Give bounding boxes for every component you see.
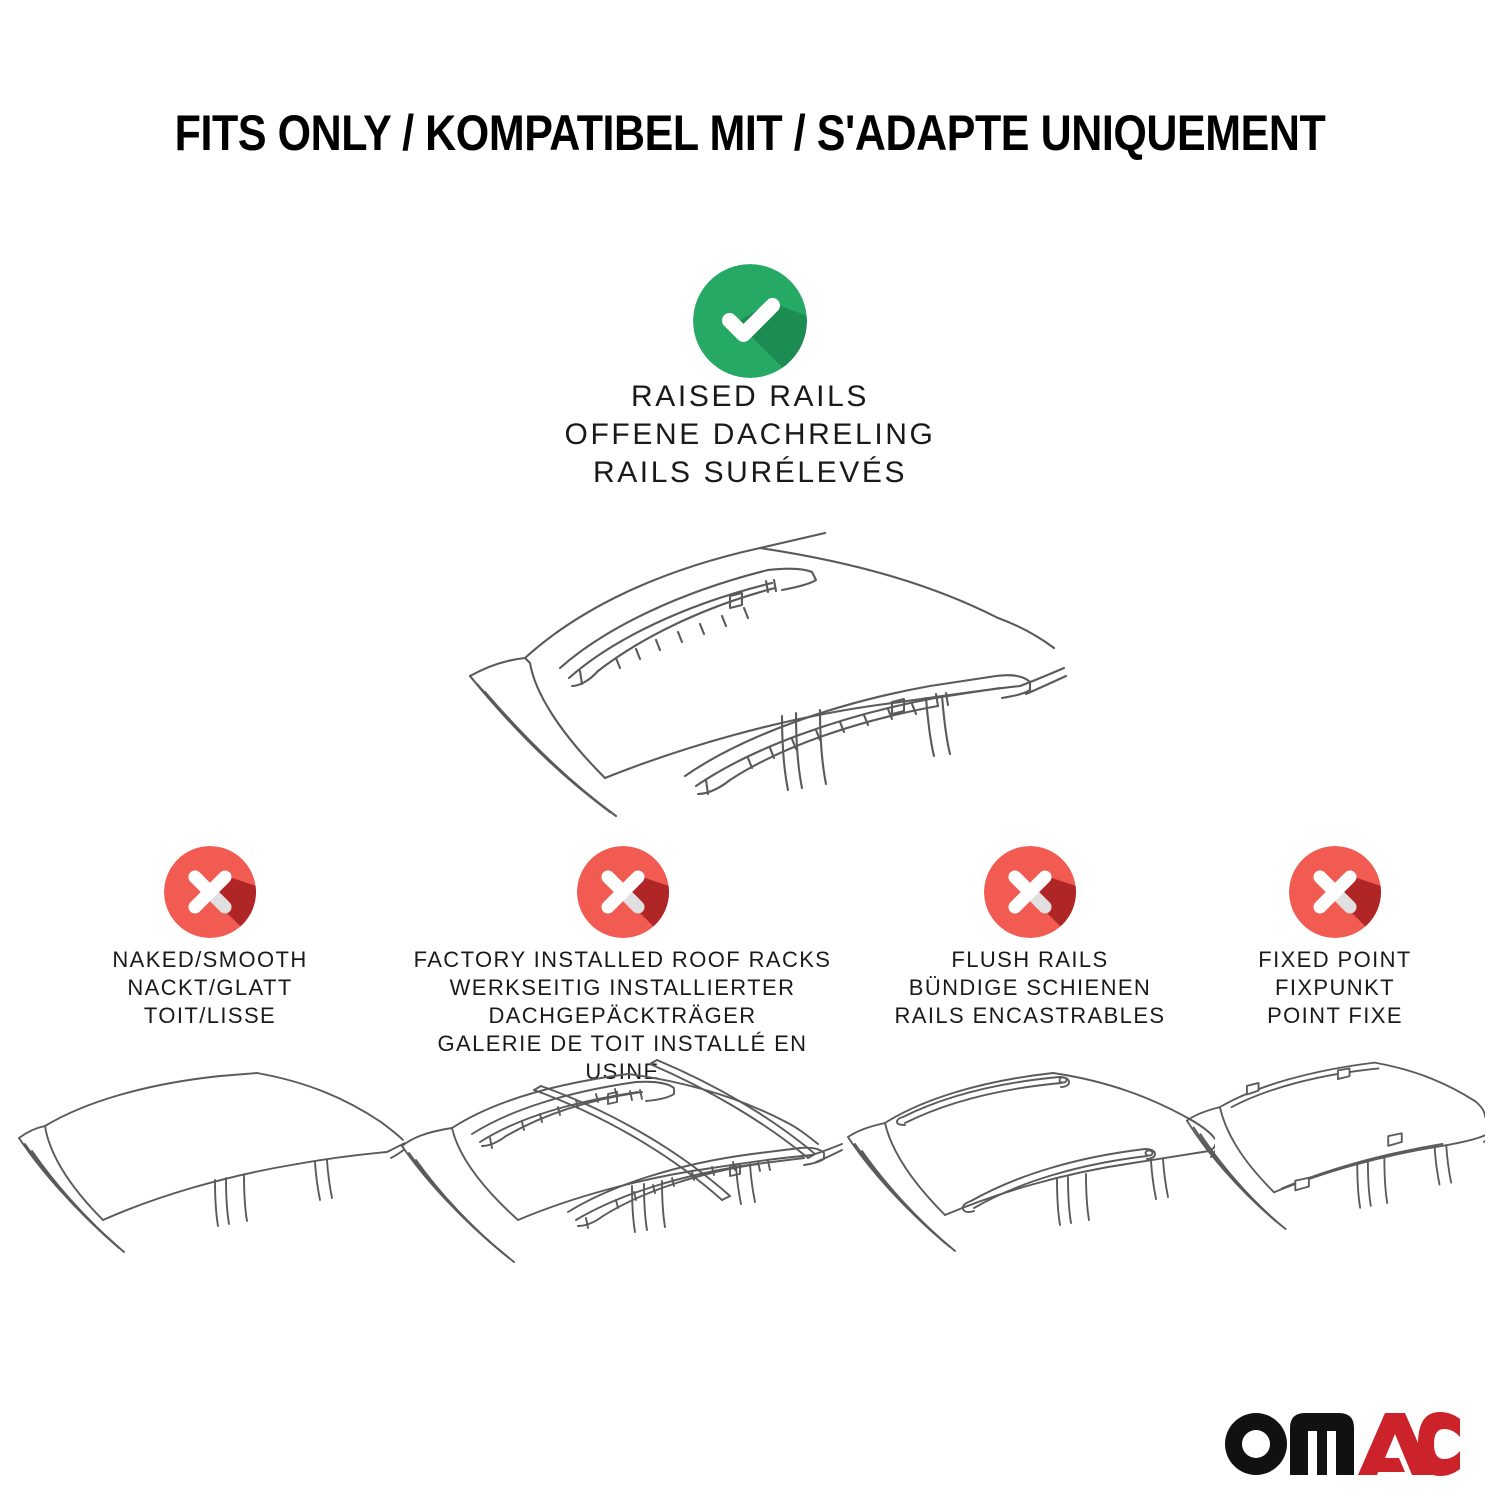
label-line: NAKED/SMOOTH (15, 946, 405, 974)
icon-wrap (845, 846, 1215, 950)
incompatible-label-group: FIXED POINT FIXPUNKT POINT FIXE (1185, 946, 1485, 1030)
check-circle-icon (693, 264, 807, 378)
x-circle-icon (1289, 846, 1381, 938)
label-line: POINT FIXE (1185, 1002, 1485, 1030)
label-line: RAILS ENCASTRABLES (845, 1002, 1215, 1030)
label-line: DACHGEPÄCKTRÄGER (400, 1002, 845, 1030)
incompatible-row: NAKED/SMOOTH NACKT/GLATT TOIT/LISSE (0, 846, 1500, 1296)
icon-wrap (400, 846, 845, 950)
car-roof-raised-rails-illustration (430, 508, 1070, 828)
car-roof-factory-roof-racks-illustration (400, 1058, 845, 1273)
compatible-label-fr: RAILS SURÉLEVÉS (400, 454, 1100, 492)
icon-wrap (1185, 846, 1485, 950)
car-roof-fixed-point-illustration (1185, 1051, 1485, 1266)
label-line: NACKT/GLATT (15, 974, 405, 1002)
incompatible-item-naked-smooth: NAKED/SMOOTH NACKT/GLATT TOIT/LISSE (15, 846, 405, 1296)
label-line: FACTORY INSTALLED ROOF RACKS (400, 946, 845, 974)
omac-logo (1222, 1404, 1460, 1478)
page-title: FITS ONLY / KOMPATIBEL MIT / S'ADAPTE UN… (105, 104, 1395, 162)
compatible-label-group: RAISED RAILS OFFENE DACHRELING RAILS SUR… (400, 378, 1100, 492)
car-roof-naked-smooth-illustration (15, 1056, 405, 1271)
x-circle-icon (164, 846, 256, 938)
icon-wrap (15, 846, 405, 950)
incompatible-item-flush-rails: FLUSH RAILS BÜNDIGE SCHIENEN RAILS ENCAS… (845, 846, 1215, 1296)
incompatible-item-fixed-point: FIXED POINT FIXPUNKT POINT FIXE (1185, 846, 1485, 1296)
x-circle-icon (577, 846, 669, 938)
label-line: TOIT/LISSE (15, 1002, 405, 1030)
label-line: BÜNDIGE SCHIENEN (845, 974, 1215, 1002)
compatible-label-en: RAISED RAILS (400, 378, 1100, 416)
incompatible-label-group: NAKED/SMOOTH NACKT/GLATT TOIT/LISSE (15, 946, 405, 1030)
label-line: WERKSEITIG INSTALLIERTER (400, 974, 845, 1002)
x-circle-icon (984, 846, 1076, 938)
label-line: FIXPUNKT (1185, 974, 1485, 1002)
incompatible-item-factory-roof-racks: FACTORY INSTALLED ROOF RACKS WERKSEITIG … (400, 846, 845, 1296)
compatible-label-de: OFFENE DACHRELING (400, 416, 1100, 454)
incompatible-label-group: FLUSH RAILS BÜNDIGE SCHIENEN RAILS ENCAS… (845, 946, 1215, 1030)
label-line: FIXED POINT (1185, 946, 1485, 974)
car-roof-flush-rails-illustration (845, 1051, 1215, 1266)
label-line: FLUSH RAILS (845, 946, 1215, 974)
